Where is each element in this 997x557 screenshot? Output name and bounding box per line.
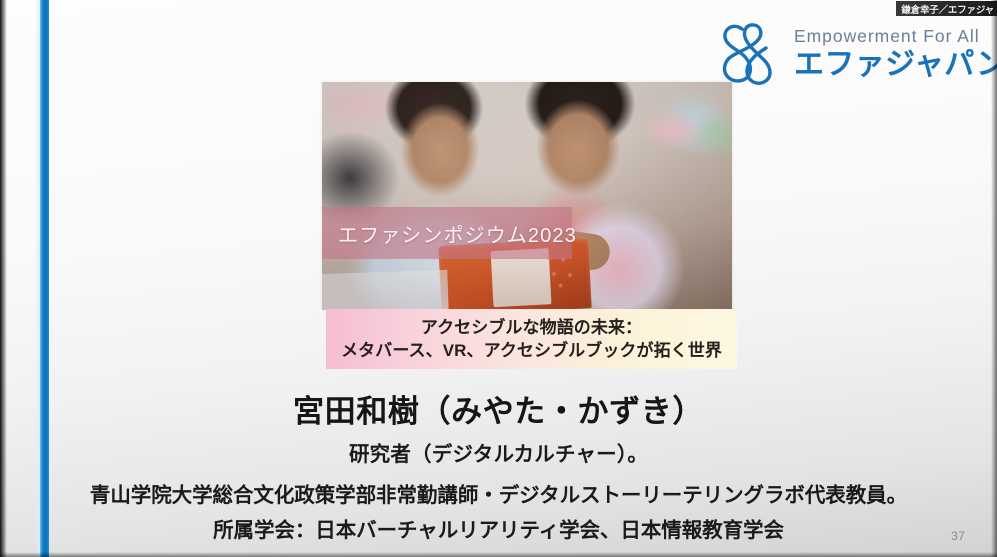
slide-photo: エファシンポジウム2023 bbox=[322, 82, 732, 310]
speaker-affiliation: 青山学院大学総合文化政策学部非常勤講師・デジタルストーリーテリングラボ代表教員。 bbox=[0, 478, 997, 508]
slide-page-number: 37 bbox=[951, 529, 965, 543]
logo-name: エファジャパン bbox=[794, 50, 997, 80]
event-title-band: エファシンポジウム2023 bbox=[322, 207, 572, 259]
speaker-name: 宮田和樹（みやた・かずき） bbox=[0, 386, 997, 431]
participant-name-label: 鎌倉幸子／エファジャ bbox=[896, 1, 997, 16]
participant-name-text: 鎌倉幸子／エファジャ bbox=[901, 2, 994, 16]
screen-share-video-frame: Empowerment For All エファジャパン エファシンポジウム202… bbox=[0, 0, 997, 557]
slide-accent-stripe bbox=[40, 0, 49, 557]
efa-japan-logo-mark-icon bbox=[712, 20, 786, 88]
efa-japan-logo-wordmark: Empowerment For All エファジャパン bbox=[794, 28, 997, 80]
session-title-line-2: メタバース、VR、アクセシブルブックが拓く世界 bbox=[341, 340, 722, 361]
session-title-ribbon: アクセシブルな物語の未来： メタバース、VR、アクセシブルブックが拓く世界 bbox=[326, 309, 737, 369]
logo-tagline: Empowerment For All bbox=[794, 28, 997, 46]
event-title-text: エファシンポジウム2023 bbox=[322, 219, 577, 248]
photo-soft-overlay bbox=[322, 82, 732, 310]
speaker-societies: 所属学会：日本バーチャルリアリティ学会、日本情報教育学会 bbox=[0, 513, 997, 543]
session-title-line-1: アクセシブルな物語の未来： bbox=[421, 317, 642, 338]
speaker-role: 研究者（デジタルカルチャー）。 bbox=[0, 437, 997, 467]
efa-japan-logo: Empowerment For All エファジャパン bbox=[712, 18, 962, 90]
presentation-slide: Empowerment For All エファジャパン エファシンポジウム202… bbox=[0, 0, 997, 557]
